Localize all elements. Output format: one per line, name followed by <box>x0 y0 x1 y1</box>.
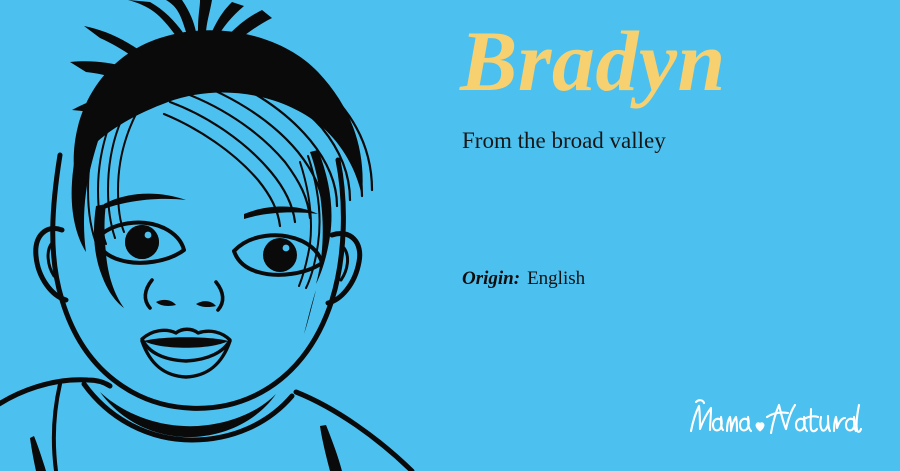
baby-nose <box>145 280 222 310</box>
baby-hair <box>70 0 372 334</box>
mama-natural-logo <box>687 395 862 443</box>
baby-mouth <box>142 329 230 377</box>
origin-row: Origin:English <box>462 268 585 290</box>
baby-left-eye <box>96 223 184 263</box>
baby-eyebrows <box>104 194 318 219</box>
baby-illustration <box>0 0 440 471</box>
page-title: Bradyn <box>460 16 726 106</box>
baby-name-card: Bradyn From the broad valley Origin:Engl… <box>0 0 900 471</box>
origin-value: English <box>527 268 585 289</box>
origin-label: Origin: <box>462 268 520 289</box>
name-meaning: From the broad valley <box>462 128 666 154</box>
